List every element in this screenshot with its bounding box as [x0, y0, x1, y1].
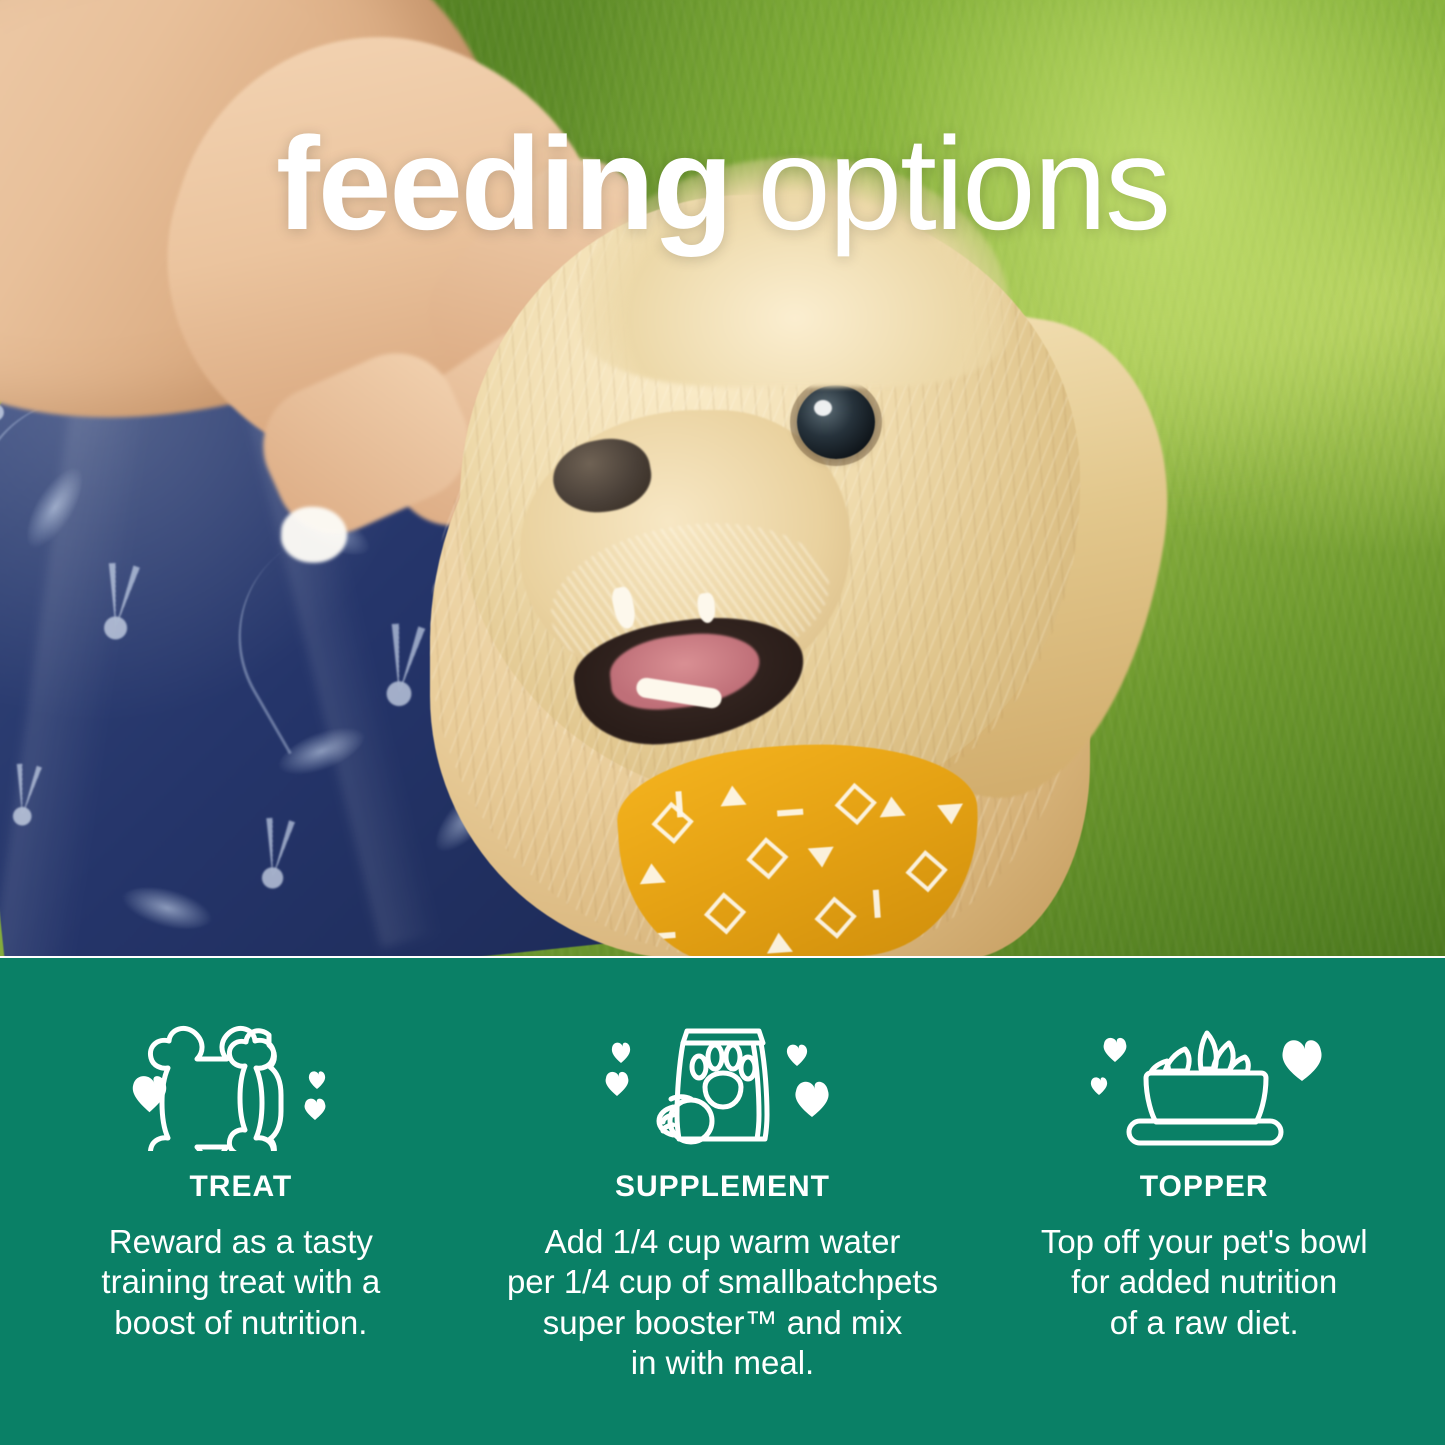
dog-bone-icon — [121, 1011, 361, 1151]
page-title: feedingoptions — [0, 118, 1445, 250]
food-bag-paw-icon — [593, 1011, 853, 1151]
supplement-description: Add 1/4 cup warm water per 1/4 cup of sm… — [507, 1222, 938, 1383]
hero-photo: feedingoptions — [0, 0, 1445, 956]
feeding-option-topper: TOPPER Top off your pet's bowl for added… — [963, 958, 1445, 1445]
title-light-word: options — [757, 110, 1169, 257]
treat-description: Reward as a tasty training treat with a … — [101, 1222, 380, 1343]
treat-title: TREAT — [189, 1170, 292, 1204]
yellow-bandana — [613, 733, 987, 956]
heart-shapes — [1091, 1038, 1322, 1095]
feeding-options-panel: TREAT Reward as a tasty training treat w… — [0, 958, 1445, 1445]
treat-icon-wrap — [0, 1006, 482, 1156]
topper-icon-wrap — [963, 1006, 1445, 1156]
bandana-pattern — [613, 733, 987, 956]
supplement-icon-wrap — [482, 1006, 964, 1156]
food-bowl-icon — [1079, 1011, 1329, 1151]
feeding-option-treat: TREAT Reward as a tasty training treat w… — [0, 958, 482, 1445]
topper-description: Top off your pet's bowl for added nutrit… — [1041, 1222, 1368, 1343]
topper-title: TOPPER — [1140, 1170, 1269, 1204]
title-bold-word: feeding — [276, 110, 731, 257]
feeding-option-supplement: SUPPLEMENT Add 1/4 cup warm water per 1/… — [482, 958, 964, 1445]
feeding-options-infographic: feedingoptions — [0, 0, 1445, 1445]
dog-eye-right — [797, 385, 875, 459]
supplement-title: SUPPLEMENT — [615, 1170, 830, 1204]
